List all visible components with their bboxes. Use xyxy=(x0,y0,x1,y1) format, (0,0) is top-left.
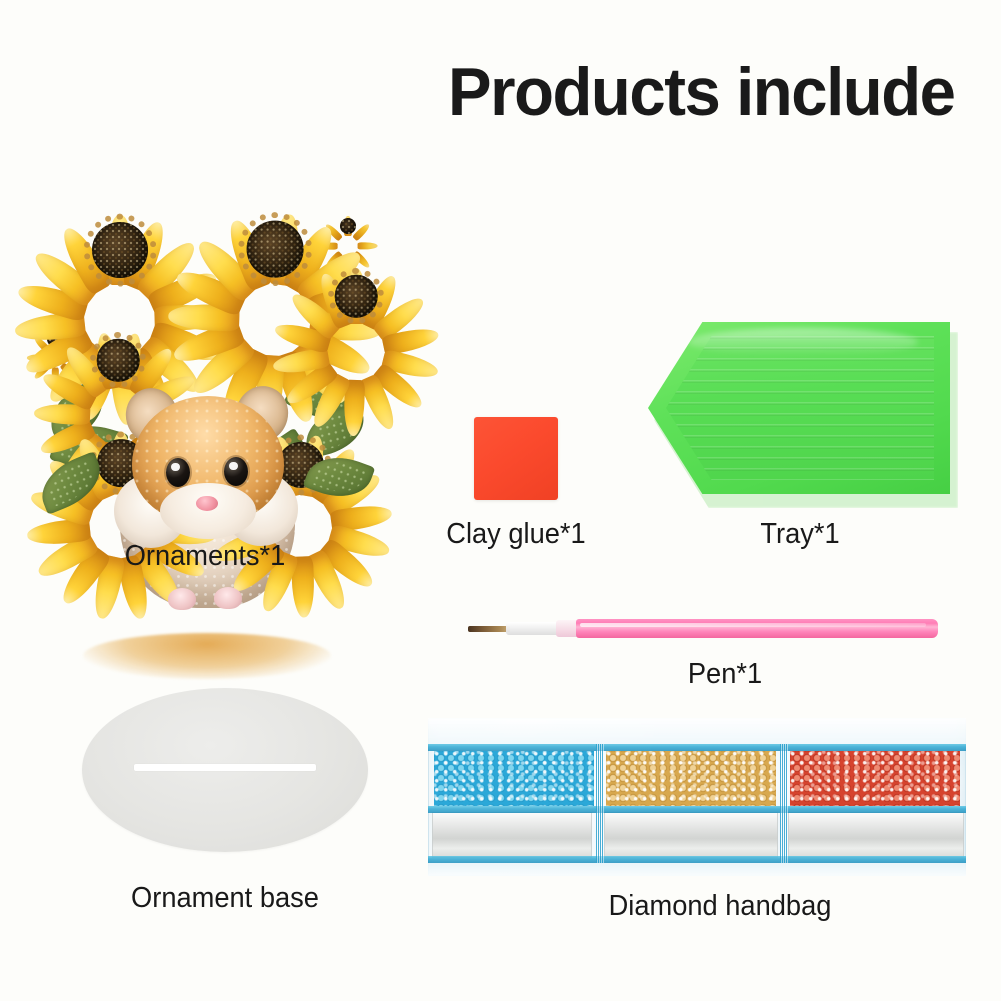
tray-label: Tray*1 xyxy=(706,518,894,551)
handbag-top-fold xyxy=(428,718,966,745)
handbag-seal-top xyxy=(428,744,966,751)
gems-blue xyxy=(434,751,594,806)
pen-label: Pen*1 xyxy=(631,658,819,691)
sunflower-icon xyxy=(50,180,190,320)
ornament-base-image xyxy=(82,688,368,852)
pen-image xyxy=(468,618,938,640)
pen-tip xyxy=(468,626,510,632)
page-title: Products include xyxy=(448,58,955,126)
ornament-base-label: Ornament base xyxy=(70,882,380,915)
ornament-ground-shadow xyxy=(83,633,331,679)
gems-gold xyxy=(606,751,776,806)
hamster-nose xyxy=(196,496,218,511)
handbag-divider xyxy=(596,744,604,863)
ornaments-label: Ornaments*1 xyxy=(50,540,360,573)
tray-highlight xyxy=(688,328,918,356)
clay-glue-image xyxy=(474,417,558,500)
ornament-base-slot xyxy=(134,764,316,771)
diamond-handbag-label: Diamond handbag xyxy=(565,890,875,923)
ornaments-image xyxy=(28,178,373,503)
hamster-eye-right xyxy=(224,457,248,486)
sunflower-icon xyxy=(300,240,412,352)
tray-image xyxy=(648,322,958,504)
clay-glue-label: Clay glue*1 xyxy=(403,518,629,551)
tray-inner-grooves xyxy=(666,336,934,480)
pen-barrel xyxy=(576,619,938,638)
hamster-paw-right xyxy=(214,587,242,609)
handbag-seal-bottom xyxy=(428,856,966,863)
diamond-handbag-image xyxy=(428,718,966,876)
handbag-bottom-fold xyxy=(428,863,966,876)
handbag-seal-mid xyxy=(428,806,966,813)
pen-ferrule xyxy=(506,622,562,635)
foil-packet xyxy=(432,812,592,858)
gems-red xyxy=(790,751,960,806)
foil-packet xyxy=(788,812,964,858)
handbag-divider xyxy=(780,744,788,863)
hamster-paw-left xyxy=(168,588,196,610)
foil-packet xyxy=(604,812,778,858)
hamster-eye-left xyxy=(166,458,190,487)
product-infographic: Products include xyxy=(0,0,1001,1001)
hamster-muzzle xyxy=(160,483,256,539)
